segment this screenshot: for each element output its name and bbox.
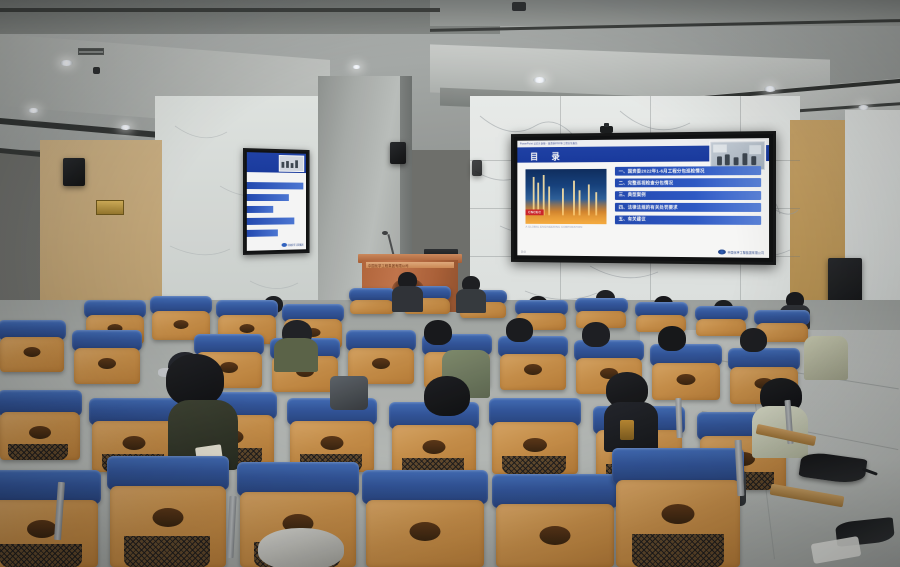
slide-page-number: 第1页 [521,250,526,254]
audience-member-body [456,289,486,313]
slide-photo-refinery: CNCEC [525,169,606,224]
company-logo-icon [718,249,726,254]
seat[interactable] [696,306,746,336]
downlight-icon [352,65,361,69]
audience-member-body [804,336,848,380]
secondary-agenda-item [247,182,304,189]
main-led-display[interactable]: PowerPoint 幻灯片放映 - 国资委2022年工程分包报告 目 录 [511,131,776,265]
agenda-item[interactable]: 五、有关建议 [615,215,761,224]
seat[interactable] [110,456,226,567]
audience-member [258,528,344,567]
seat[interactable] [74,330,140,384]
downlight-icon [60,60,73,66]
conference-camera-icon [600,126,613,133]
agenda-item[interactable]: 一、国资委2022年1-6月工程分包巡检情况 [615,166,761,176]
audience-member [506,318,533,342]
downlight-icon [28,108,39,113]
seat[interactable] [492,398,578,474]
seat[interactable] [0,470,98,567]
company-logo-text: 中国化学工程集团 [287,243,303,247]
seat[interactable] [0,320,64,372]
audience-member [740,328,767,352]
secondary-agenda-item [247,229,278,236]
agenda-item[interactable]: 三、典型案例 [615,191,761,200]
wall-speaker-small [472,160,482,176]
secondary-agenda-list [247,182,306,242]
secondary-company-logo: 中国化学工程集团 [281,243,303,247]
seat[interactable] [500,336,566,390]
wall-speaker-left [63,158,85,186]
conference-hall-scene: PowerPoint 幻灯片放映 - 国资委2022年工程分包报告 目 录 [0,0,900,567]
backpack [330,376,368,410]
agenda-item[interactable]: 二、完整巡视检查分包情况 [615,178,761,187]
secondary-thumbnail [279,155,304,172]
agenda-item-label: 四、法律法规的有关处罚要求 [615,204,678,210]
company-logo-icon [281,243,287,247]
seat[interactable] [0,390,80,460]
audience-member [424,376,470,416]
microphone-icon [382,231,388,235]
downlight-icon [120,125,131,130]
wall-left-wood-panel [40,140,162,315]
secondary-led-display[interactable]: 中国化学工程集团 [243,148,310,255]
agenda-item-label: 二、完整巡视检查分包情况 [615,180,673,186]
agenda-item-label: 三、典型案例 [615,192,646,198]
secondary-slide: 中国化学工程集团 [247,152,306,251]
audience-member [424,320,452,345]
ceiling-vent [78,48,104,55]
ceiling-slab-left [0,0,500,34]
slide-photo-caption: A GLOBAL ENGINEERING CORPORATION [525,225,610,229]
slide-title: 目 录 [530,150,565,163]
seat[interactable] [496,474,614,567]
audience-member [582,322,610,347]
seat[interactable] [616,448,740,567]
audience-member-body [274,338,318,372]
podium-banner-text: 中国化学工程集团有限公司 [368,263,409,268]
presentation-slide: PowerPoint 幻灯片放映 - 国资委2022年工程分包报告 目 录 [517,138,769,258]
slide-agenda-list: 一、国资委2022年1-6月工程分包巡检情况 二、完整巡视检查分包情况 三、典型… [615,166,761,228]
ceiling-sprinkler-icon [93,67,100,74]
downlight-icon [533,77,546,83]
seat[interactable] [652,344,720,400]
slide-company-logo: 中国化学工程集团有限公司 [718,249,764,254]
ceiling-reveal-line-5 [0,8,440,12]
wall-plaque [96,200,124,215]
downlight-icon [764,86,776,92]
company-logo-text: 中国化学工程集团有限公司 [728,250,764,254]
secondary-agenda-item [247,194,289,201]
wall-speaker-center [390,142,406,164]
secondary-agenda-item [247,206,274,213]
agenda-item-label: 五、有关建议 [615,217,646,223]
agenda-item[interactable]: 四、法律法规的有关处罚要求 [615,203,761,212]
ceiling-projector-icon [512,2,526,11]
audience-member [166,354,224,406]
slide-photo-badge: CNCEC [525,209,543,215]
seat[interactable] [366,470,484,567]
audience-member-body [392,286,423,312]
audience-member [658,326,686,351]
secondary-agenda-item [247,218,295,225]
agenda-item-label: 一、国资委2022年1-6月工程分包巡检情况 [615,168,705,174]
thermos-cup [620,420,634,440]
podium-banner: 中国化学工程集团有限公司 [366,262,454,268]
seat[interactable] [350,288,394,314]
